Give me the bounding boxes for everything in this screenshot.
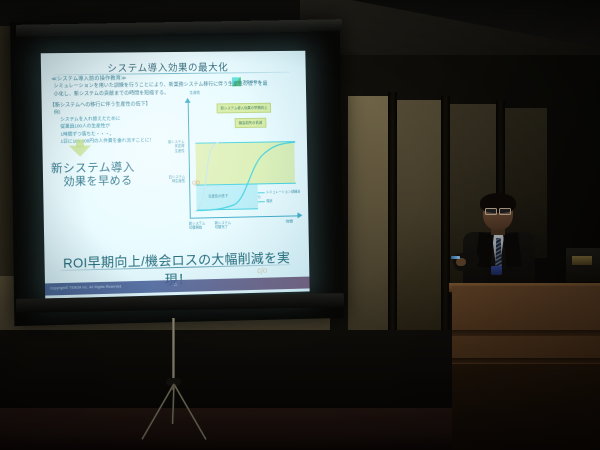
presentation-room-photo: システム導入効果の最大化 TENDA ≪システム導入前の操作教育≫ シミュレーシ… bbox=[0, 0, 600, 450]
productivity-chart: 生産性 時間 新システム安定時生産性 旧システム時生産性 新システム導入効果の早… bbox=[173, 98, 302, 240]
legend-dash-icon-1 bbox=[258, 192, 265, 193]
slide-body-text: シミュレーションを用いた訓練を行うことにより、新業務システム移行に伴う生産性の低… bbox=[53, 81, 268, 99]
slide-emphasis-line-2: 効果を早める bbox=[63, 172, 132, 189]
slide-watermark-bottom: cjo bbox=[257, 266, 267, 275]
chart-legend: シミュレーション訓練あり 現状 bbox=[258, 190, 302, 205]
laptop-screen bbox=[572, 256, 592, 265]
slide-bracket-heading: 【新システムへの移行に伴う生産性の低下】 bbox=[50, 100, 151, 108]
slide-subtitle: ≪システム導入前の操作教育≫ bbox=[51, 75, 126, 83]
chart-x-tick-2: 新システム切替完了 bbox=[215, 221, 231, 230]
slide-example-lines: システムを入れ替えたために 従業員100人の生産性が 1時間ずつ落ちた・・・。 … bbox=[60, 114, 154, 145]
podium-base-shadow bbox=[452, 364, 600, 450]
legend-label-2: 現状 bbox=[266, 199, 272, 203]
legend-item-2: 現状 bbox=[258, 199, 301, 204]
wall-divider-1 bbox=[388, 92, 397, 332]
chart-curve-trained bbox=[193, 142, 220, 211]
glasses-icon bbox=[485, 208, 511, 213]
chart-watermark: cjo bbox=[192, 180, 200, 187]
legend-dash-icon-2 bbox=[258, 201, 265, 202]
name-badge bbox=[491, 266, 502, 275]
podium-trim-upper bbox=[452, 330, 600, 336]
laptop bbox=[566, 248, 600, 282]
chart-callout-2: 機会損失の低減 bbox=[235, 118, 267, 128]
wall-divider-2 bbox=[441, 96, 450, 332]
chart-x-tick-1: 新システム切替開始 bbox=[189, 221, 205, 230]
wall-panel-1 bbox=[348, 96, 388, 332]
slide-page-number: 27 bbox=[174, 283, 178, 287]
example-line-4: 1日に100,000円の人件費を垂れ流すことに！ bbox=[61, 137, 155, 146]
projected-slide: システム導入効果の最大化 TENDA ≪システム導入前の操作教育≫ シミュレーシ… bbox=[41, 51, 310, 299]
speaker-hand bbox=[456, 258, 466, 266]
laser-pointer bbox=[451, 256, 460, 259]
podium-trim-lower bbox=[452, 358, 600, 363]
down-arrow-icon bbox=[69, 145, 91, 156]
wall-panel-2 bbox=[397, 100, 441, 332]
chart-callout-1: 新システム導入効果の早期向上 bbox=[217, 103, 272, 113]
chart-region-label: 生産性の低下 bbox=[208, 193, 228, 198]
chart-y-axis-label: 生産性 bbox=[189, 91, 200, 96]
